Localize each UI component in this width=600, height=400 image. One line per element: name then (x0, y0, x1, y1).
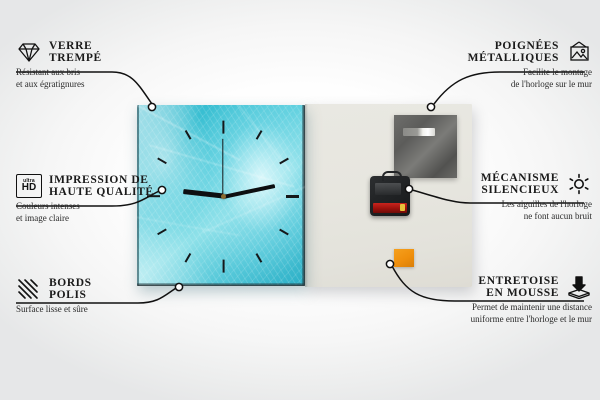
callout-mecanisme-silencieux: MÉCANISME SILENCIEUX Les aiguilles de l'… (481, 172, 592, 222)
clock-mechanism (370, 176, 410, 216)
hour-hand (183, 190, 223, 199)
callout-description: Facilite le montage de l'horloge sur le … (468, 67, 592, 90)
callout-entretoise-en-mousse: ENTRETOISE EN MOUSSE Permet de maintenir… (471, 275, 592, 325)
clock-tick (184, 253, 191, 263)
feather-streak (202, 179, 305, 234)
clock-tick (157, 229, 167, 236)
metal-hanger-plate (394, 115, 457, 178)
glass-edge-right (302, 105, 305, 286)
glass-clock-face (137, 105, 305, 286)
glass-edge-bottom (137, 283, 305, 286)
callout-title: IMPRESSION DE HAUTE QUALITÉ (49, 174, 154, 198)
feather-streak (203, 105, 290, 171)
callout-impression-haute-qualite: ultra HD IMPRESSION DE HAUTE QUALITÉ Cou… (16, 174, 154, 224)
callout-description: Résistant aux bris et aux égratignures (16, 67, 102, 90)
hands-center-cap (221, 194, 226, 199)
callout-description: Les aiguilles de l'horloge ne font aucun… (481, 199, 592, 222)
callout-title: POIGNÉES MÉTALLIQUES (468, 40, 559, 64)
callout-title: VERRE TREMPÉ (49, 40, 102, 64)
callout-verre-trempe: VERRE TREMPÉ Résistant aux bris et aux é… (16, 40, 102, 90)
feather-streak (137, 105, 240, 161)
diamond-icon (16, 40, 42, 64)
picture-frame-hanging-icon (566, 40, 592, 64)
callout-description: Couleurs intenses et image claire (16, 201, 154, 224)
callout-description: Permet de maintenir une distance uniform… (471, 302, 592, 325)
foam-spacer (394, 249, 414, 267)
product-infographic: VERRE TREMPÉ Résistant aux bris et aux é… (0, 0, 600, 400)
clock-tick (157, 158, 167, 165)
arrow-down-onto-pad-icon (566, 275, 592, 299)
battery (373, 203, 407, 213)
hanger-slot (403, 128, 435, 136)
clock-tick (222, 259, 224, 272)
clock-tick (286, 195, 299, 197)
callout-title: ENTRETOISE EN MOUSSE (478, 275, 559, 299)
diagonal-lines-icon (16, 277, 42, 301)
callout-title: BORDS POLIS (49, 277, 92, 301)
clock-tick (280, 229, 290, 236)
callout-title: MÉCANISME SILENCIEUX (481, 172, 559, 196)
mechanism-handle (382, 171, 402, 181)
battery-terminal (400, 204, 405, 211)
ultra-hd-icon: ultra HD (16, 174, 42, 198)
gear-icon (566, 172, 592, 196)
mechanism-label (375, 183, 401, 195)
minute-hand (223, 184, 276, 199)
callout-poignees-metalliques: POIGNÉES MÉTALLIQUES Facilite le montage… (468, 40, 592, 90)
clock-tick (255, 253, 262, 263)
clock-tick (222, 120, 224, 133)
second-hand (222, 138, 223, 196)
callout-bords-polis: BORDS POLIS Surface lisse et sûre (16, 277, 92, 316)
callout-description: Surface lisse et sûre (16, 304, 92, 316)
